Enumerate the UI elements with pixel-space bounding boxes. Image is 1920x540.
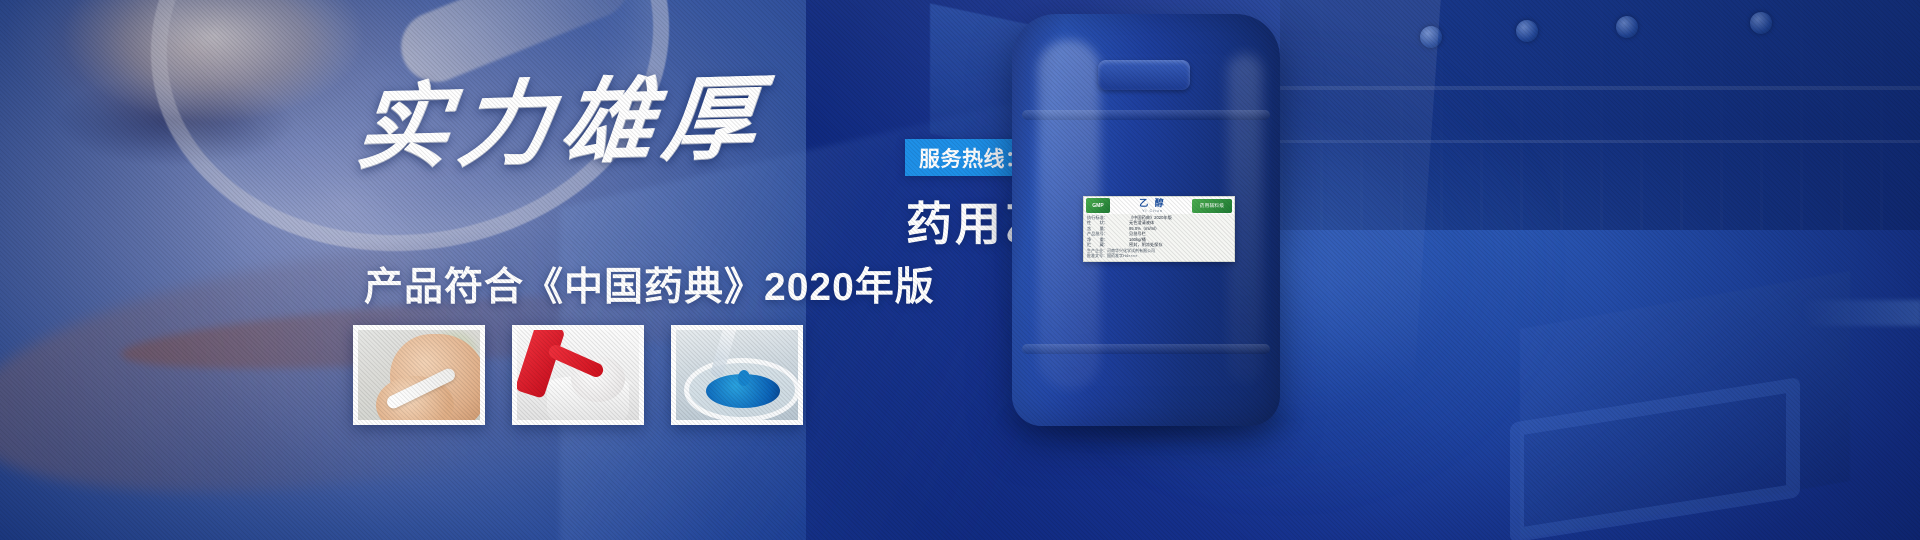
label-name-en: Yi Chun <box>1113 208 1192 213</box>
page-subtitle: 产品符合《中国药典》2020年版 <box>364 256 935 312</box>
liquid-drop-icon <box>738 370 750 386</box>
headline-calligraphy: 实力雄厚 <box>352 71 770 174</box>
machine-bolt-icon <box>1516 20 1538 42</box>
background-brand-strip <box>1802 300 1920 326</box>
thumbnail-image <box>517 330 639 420</box>
label-spec-table: 执行标准： 《中国药典》2020年版 性 状： 无色澄清液体 含 量： 95.0… <box>1084 214 1234 248</box>
label-title: 乙 醇 Yi Chun <box>1113 199 1192 213</box>
label-row-value: 密封，阴凉处保存 <box>1129 242 1231 247</box>
thumbnail-image <box>676 330 798 420</box>
thumbnail-swab-on-skin[interactable] <box>353 325 485 425</box>
label-row-key: 贮 藏： <box>1087 242 1129 247</box>
label-row: 贮 藏： 密封，阴凉处保存 <box>1087 242 1231 247</box>
label-grade-tag: 药用辅料级 <box>1192 199 1232 213</box>
thumbnail-image <box>358 330 480 420</box>
thumbnail-pipette-blue-liquid[interactable] <box>671 325 803 425</box>
drum-cap <box>1098 60 1190 90</box>
thumbnail-bottle-over-cotton[interactable] <box>512 325 644 425</box>
label-name-zh: 乙 醇 <box>1113 199 1192 208</box>
promo-banner: 实力雄厚 服务热线：0373-6210222 药用乙醇 产品符合《中国药典》20… <box>0 0 1920 540</box>
label-header: GMP 乙 醇 Yi Chun 药用辅料级 <box>1084 197 1234 214</box>
gmp-badge-icon: GMP <box>1086 198 1110 213</box>
label-license: 批准文号：国药准字H4×××× <box>1084 253 1234 258</box>
thumbnail-gallery <box>353 325 803 425</box>
machine-bolt-icon <box>1616 16 1638 38</box>
page-title: 实力雄厚 <box>352 82 952 202</box>
product-label: GMP 乙 醇 Yi Chun 药用辅料级 执行标准： 《中国药典》2020年版… <box>1083 196 1235 262</box>
machine-bolt-icon <box>1750 12 1772 34</box>
